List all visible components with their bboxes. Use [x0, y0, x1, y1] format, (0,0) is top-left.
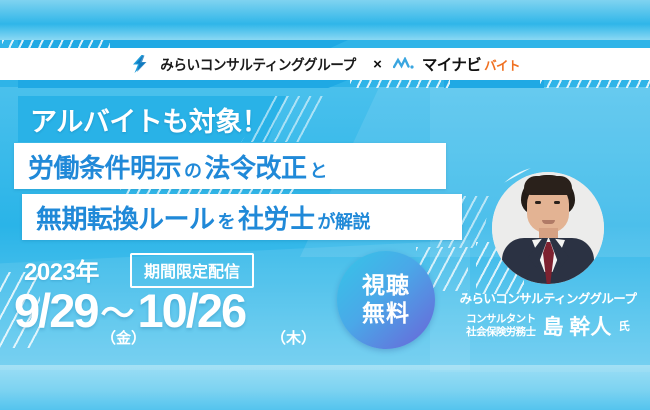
headline-line-2: 労働条件明示 の 法令改正 と: [14, 143, 446, 189]
logo-separator: ×: [371, 56, 384, 73]
wave-mark-icon: [393, 57, 419, 71]
speaker-company: みらいコンサルティンググループ: [452, 288, 644, 307]
mynavi-baito-logo: マイナビ バイト: [393, 53, 520, 75]
decorative-hatch-3: [430, 196, 490, 248]
end-date: 10/26: [137, 283, 245, 338]
headline-line-3: 無期転換ルール を 社労士 が解説: [22, 194, 462, 240]
stripe-block-bottom-right: [444, 80, 544, 88]
lightning-bolt-icon: [130, 54, 150, 74]
start-date: 9/29: [14, 283, 97, 338]
free-badge-line-2: 無料: [362, 301, 410, 327]
speaker-name: 島 幹人: [542, 311, 611, 341]
headline-line-2-kw-2: 法令改正: [205, 148, 307, 185]
headline-line-2-particle-2: と: [307, 157, 331, 183]
headline-line-3-kw-2: 社労士: [238, 199, 315, 236]
headline-line-3-particle-1: を: [215, 208, 239, 234]
mirai-logo-text: みらいコンサルティンググループ: [160, 54, 355, 75]
mynavi-logo-sub: バイト: [484, 55, 520, 74]
speaker-title-1: コンサルタント: [466, 313, 535, 326]
logo-strip: みらいコンサルティンググループ × マイナビ バイト: [0, 40, 650, 87]
free-badge-line-1: 視聴: [362, 273, 410, 299]
top-sky-band: [0, 0, 650, 40]
webinar-banner: みらいコンサルティンググループ × マイナビ バイト アルバイトも対象！ 労働条…: [0, 0, 650, 410]
diagonal-stripes-bottom-center: [350, 80, 450, 88]
headline-line-3-kw-1: 無期転換ルール: [36, 199, 215, 236]
headline-line-2-particle-1: の: [181, 157, 205, 183]
free-viewing-badge: 視聴 無料: [337, 251, 435, 349]
stripe-block-bottom-left: [18, 80, 348, 88]
start-date-weekday: （金）: [101, 327, 146, 348]
speaker-portrait: [492, 172, 604, 284]
headline-line-2-kw-1: 労働条件明示: [28, 148, 181, 185]
year-label: 2023年: [24, 252, 99, 287]
mynavi-logo-text: マイナビ: [422, 53, 481, 75]
headline-line-3-particle-2: が解説: [315, 208, 374, 234]
mirai-consulting-logo: みらいコンサルティンググループ: [130, 54, 362, 75]
diagonal-stripes-bottom-right: [540, 80, 650, 88]
speaker-credit: みらいコンサルティンググループ コンサルタント 社会保険労務士 島 幹人 氏: [452, 288, 644, 341]
speaker-name-suffix: 氏: [618, 318, 630, 334]
speaker-title-2: 社会保険労務士: [466, 326, 535, 339]
headline-line-1-text: アルバイトも対象！: [30, 100, 268, 139]
partner-logo-row: みらいコンサルティンググループ × マイナビ バイト: [0, 48, 650, 80]
end-date-weekday: （木）: [271, 327, 316, 348]
